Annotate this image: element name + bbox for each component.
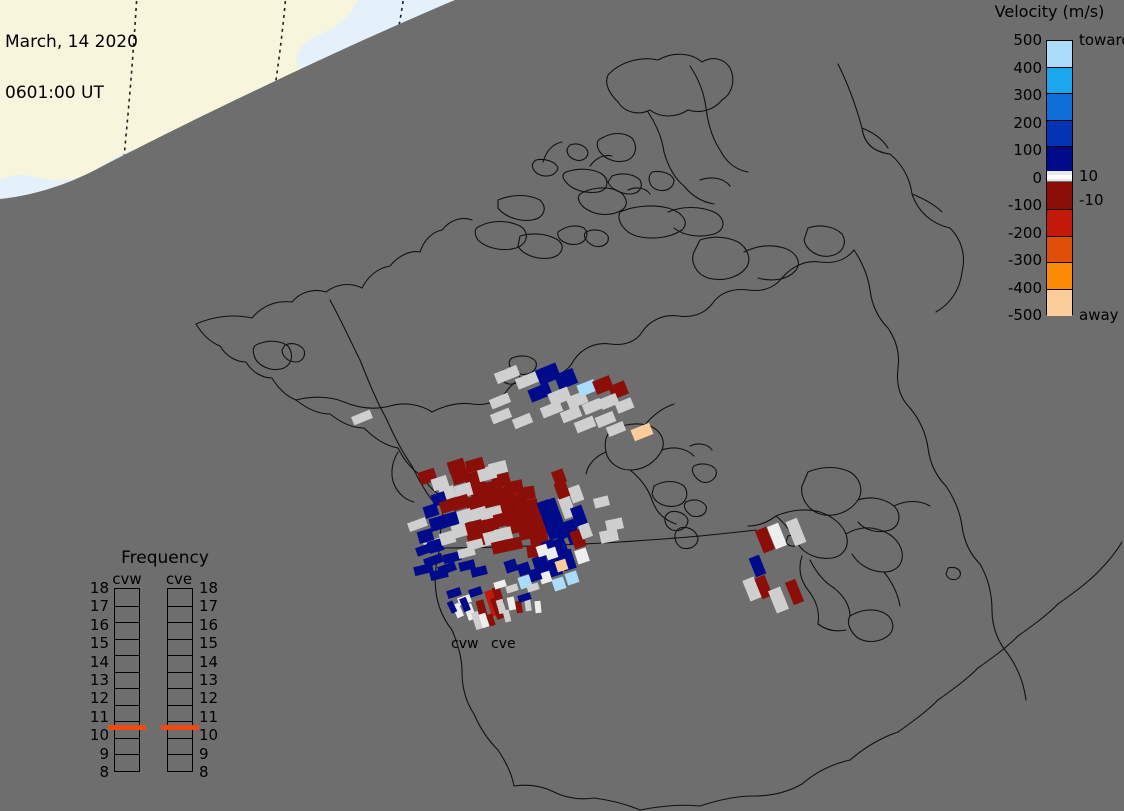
frequency-tick-cvw-8: 8 — [81, 763, 109, 781]
velocity-band-positive-2 — [1047, 93, 1072, 119]
velocity-band-positive-3 — [1047, 120, 1072, 146]
frequency-tick-cvw-17: 17 — [81, 597, 109, 615]
velocity-zero-white-strip — [1047, 175, 1072, 179]
radar-cell — [407, 517, 428, 532]
velocity-zero-upper-label: 10 — [1079, 167, 1098, 185]
velocity-band-negative-1 — [1047, 209, 1072, 236]
radar-cell — [503, 609, 512, 622]
radar-cell — [507, 596, 517, 610]
frequency-cell-cvw-9 — [115, 738, 139, 755]
frequency-tick-cve-12: 12 — [199, 689, 227, 707]
frequency-cell-cve-5 — [168, 672, 192, 689]
frequency-cell-cve-0 — [168, 589, 192, 606]
velocity-legend-title: Velocity (m/s) — [975, 2, 1124, 21]
radar-cell — [630, 423, 653, 442]
velocity-tick--100: -100 — [972, 196, 1042, 214]
radar-cell — [605, 517, 624, 531]
frequency-tick-cve-11: 11 — [199, 708, 227, 726]
frequency-tick-cve-15: 15 — [199, 634, 227, 652]
radar-cell — [749, 555, 767, 578]
frequency-tick-cve-8: 8 — [199, 763, 227, 781]
velocity-tick-300: 300 — [972, 86, 1042, 104]
frequency-cell-cvw-4 — [115, 655, 139, 672]
radar-cell — [574, 416, 597, 434]
velocity-tick--400: -400 — [972, 279, 1042, 297]
frequency-cell-cvw-3 — [115, 639, 139, 656]
velocity-band-negative-4 — [1047, 289, 1072, 316]
radar-cell — [593, 495, 610, 508]
velocity-band-positive-0 — [1047, 41, 1072, 67]
frequency-tick-cvw-13: 13 — [81, 671, 109, 689]
frequency-tick-cvw-12: 12 — [81, 689, 109, 707]
frequency-cell-cve-2 — [168, 622, 192, 639]
radar-cell — [490, 408, 512, 425]
velocity-tick-400: 400 — [972, 59, 1042, 77]
frequency-cell-cvw-7 — [115, 705, 139, 722]
frequency-marker-cve — [161, 725, 199, 730]
frequency-legend-title: Frequency — [85, 548, 245, 568]
radar-cell — [505, 583, 519, 593]
frequency-tick-cve-9: 9 — [199, 745, 227, 763]
frequency-cell-cve-1 — [168, 606, 192, 623]
frequency-cell-cve-6 — [168, 688, 192, 705]
radar-cell — [493, 579, 507, 589]
frequency-column-label-cve: cve — [159, 570, 199, 588]
velocity-band-negative-2 — [1047, 236, 1072, 263]
superdarn-velocity-map: March, 14 2020 0601:00 UT Velocity (m/s)… — [0, 0, 1124, 811]
radar-cell — [468, 586, 483, 598]
radar-cell — [551, 576, 566, 591]
station-label-cve: cve — [491, 636, 516, 652]
radar-cell — [574, 547, 590, 564]
velocity-away-label: away — [1079, 306, 1119, 324]
frequency-tick-cvw-15: 15 — [81, 634, 109, 652]
radar-cell — [786, 518, 807, 547]
radar-cell — [515, 601, 523, 614]
frequency-tick-cvw-9: 9 — [81, 745, 109, 763]
velocity-toward-label: toward — [1079, 31, 1124, 49]
radar-cell — [534, 601, 541, 614]
radar-cell — [512, 413, 533, 429]
frequency-cell-cve-10 — [168, 754, 192, 771]
frequency-tick-cvw-14: 14 — [81, 653, 109, 671]
frequency-tick-cve-13: 13 — [199, 671, 227, 689]
velocity-tick--300: -300 — [972, 251, 1042, 269]
velocity-zero-band — [1046, 171, 1073, 181]
frequency-legend: Frequency cvw cve 1818171716161515141413… — [85, 545, 245, 785]
velocity-tick-200: 200 — [972, 114, 1042, 132]
radar-cell — [785, 579, 804, 605]
velocity-tick-500: 500 — [972, 31, 1042, 49]
timestamp-time: 0601:00 UT — [5, 85, 138, 102]
frequency-tick-cve-10: 10 — [199, 726, 227, 744]
radar-cell — [446, 587, 462, 599]
timestamp-date: March, 14 2020 — [5, 34, 138, 51]
velocity-band-negative-0 — [1047, 182, 1072, 209]
velocity-tick-100: 100 — [972, 141, 1042, 159]
velocity-band-positive-1 — [1047, 67, 1072, 93]
radar-cell — [527, 382, 552, 402]
velocity-band-positive-4 — [1047, 146, 1072, 172]
frequency-marker-cvw — [108, 725, 146, 730]
frequency-tick-cvw-11: 11 — [81, 708, 109, 726]
velocity-band-negative-3 — [1047, 262, 1072, 289]
frequency-tick-cvw-18: 18 — [81, 579, 109, 597]
frequency-tick-cve-18: 18 — [199, 579, 227, 597]
frequency-tick-cvw-16: 16 — [81, 616, 109, 634]
frequency-cell-cvw-2 — [115, 622, 139, 639]
radar-cell — [489, 393, 511, 410]
frequency-cell-cvw-5 — [115, 672, 139, 689]
velocity-tick--500: -500 — [972, 306, 1042, 324]
frequency-cell-cvw-1 — [115, 606, 139, 623]
frequency-cell-cve-4 — [168, 655, 192, 672]
velocity-zero-lower-label: -10 — [1079, 191, 1104, 209]
frequency-tick-cve-14: 14 — [199, 653, 227, 671]
frequency-tick-cvw-10: 10 — [81, 726, 109, 744]
frequency-cell-cve-3 — [168, 639, 192, 656]
frequency-cell-cve-9 — [168, 738, 192, 755]
frequency-cell-cvw-0 — [115, 589, 139, 606]
radar-cell — [768, 586, 789, 613]
velocity-tick-0: 0 — [972, 169, 1042, 187]
frequency-tick-cve-16: 16 — [199, 616, 227, 634]
station-label-cvw: cvw — [451, 636, 478, 652]
radar-cell — [564, 570, 579, 585]
frequency-column-label-cvw: cvw — [107, 570, 147, 588]
frequency-cell-cvw-6 — [115, 688, 139, 705]
radar-cell — [503, 558, 518, 573]
velocity-tick--200: -200 — [972, 224, 1042, 242]
timestamp: March, 14 2020 0601:00 UT — [5, 0, 138, 136]
frequency-tick-cve-17: 17 — [199, 597, 227, 615]
frequency-cell-cve-7 — [168, 705, 192, 722]
velocity-legend: Velocity (m/s) 5004003002001000-100-200-… — [975, 0, 1124, 330]
frequency-bar-cvw — [114, 588, 140, 772]
radar-cell — [351, 410, 373, 426]
frequency-bar-cve — [167, 588, 193, 772]
frequency-cell-cvw-10 — [115, 754, 139, 771]
